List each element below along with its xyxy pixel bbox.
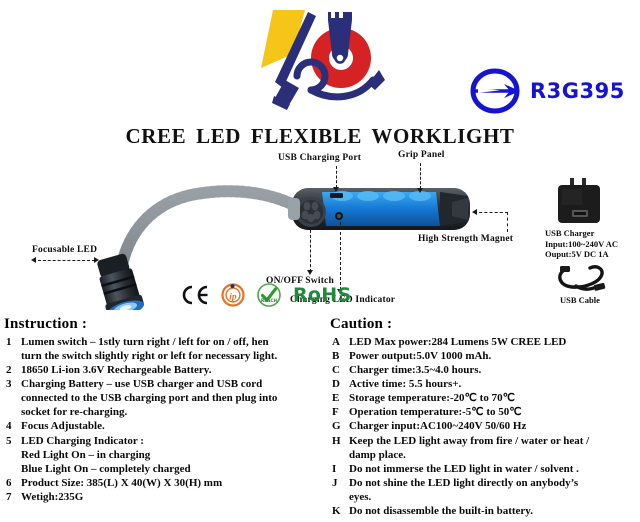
instruction-marker: 5: [4, 434, 21, 448]
instruction-text: turn the switch slightly right or left f…: [21, 349, 334, 363]
leader-usb-charging-port: [336, 166, 337, 188]
instruction-text: Lumen switch – 1stly turn right / left f…: [21, 335, 334, 349]
leader-high-strength-magnet-h: [474, 212, 508, 213]
instruction-item: 3 Charging Battery – use USB charger and…: [4, 377, 334, 391]
caution-marker: B: [330, 349, 349, 363]
usb-cable-image: [552, 262, 614, 294]
instruction-text: LED Charging Indicator :: [21, 434, 334, 448]
caution-text: eyes.: [349, 490, 638, 504]
arrowhead-grip-panel: [417, 188, 423, 193]
caution-text: Charger input:AC100~240V 50/60 Hz: [349, 419, 638, 433]
instruction-section: Instruction : 1 Lumen switch – 1stly tur…: [4, 316, 334, 504]
model-mark: R3G395: [470, 68, 625, 114]
caution-item: A LED Max power:284 Lumens 5W CREE LED: [330, 335, 638, 349]
usb-cable-caption: USB Cable: [560, 295, 600, 306]
caution-section: Caution : A LED Max power:284 Lumens 5W …: [330, 316, 638, 518]
usb-charger-caption: USB Charger Input:100~240V AC Ouput:5V D…: [545, 228, 618, 260]
caution-marker: K: [330, 504, 349, 518]
caution-heading: Caution :: [330, 316, 638, 333]
model-mark-text: R3G395: [530, 79, 625, 103]
instruction-item: 5 LED Charging Indicator :: [4, 434, 334, 448]
arrowhead-high-strength-magnet: [472, 209, 477, 215]
brand-logo-svg: [255, 6, 395, 111]
caution-item: E Storage temperature:-20℃ to 70℃: [330, 391, 638, 405]
arrowhead-focusable-led: [94, 257, 99, 263]
instruction-marker: 3: [4, 377, 21, 391]
instruction-item: 2 18650 Li-ion 3.6V Rechargeable Battery…: [4, 363, 334, 377]
r3g-logo-icon: [470, 68, 524, 114]
caution-text: Do not shine the LED light directly on a…: [349, 476, 638, 490]
caution-text: Power output:5.0V 1000 mAh.: [349, 349, 638, 363]
caution-item-cont: J eyes.: [330, 490, 638, 504]
arrowhead-focusable-led-tail: [31, 257, 36, 263]
instruction-text: socket for re-charging.: [21, 405, 334, 419]
ce-mark-icon: [180, 284, 210, 306]
usb-cable-caption-line-1: USB Cable: [560, 295, 600, 306]
instruction-item-cont: 1 turn the switch slightly right or left…: [4, 349, 334, 363]
caution-item-cont: H damp place.: [330, 448, 638, 462]
callout-high-strength-magnet: High Strength Magnet: [418, 234, 513, 244]
usb-charger-caption-line-2: Input:100~240V AC: [545, 239, 618, 250]
instruction-item-cont: 3 socket for re-charging.: [4, 405, 334, 419]
worklight-brand-logo: [255, 6, 395, 111]
caution-marker: C: [330, 363, 349, 377]
caution-marker: H: [330, 434, 349, 448]
instruction-item: 6 Product Size: 385(L) X 40(W) X 30(H) m…: [4, 476, 334, 490]
caution-text: Storage temperature:-20℃ to 70℃: [349, 391, 638, 405]
instruction-text: Blue Light On – completely charged: [21, 462, 334, 476]
instruction-marker: 7: [4, 490, 21, 504]
instruction-item: 1 Lumen switch – 1stly turn right / left…: [4, 335, 334, 349]
instruction-marker: 6: [4, 476, 21, 490]
caution-item: H Keep the LED light away from fire / wa…: [330, 434, 638, 448]
usb-charger-caption-line-1: USB Charger: [545, 228, 618, 239]
instruction-text: Wetigh:235G: [21, 490, 334, 504]
caution-text: Do not disassemble the built-in battery.: [349, 504, 638, 518]
svg-text:ip: ip: [229, 292, 237, 302]
reach-compliance-icon: REACH: [256, 283, 282, 307]
caution-marker: F: [330, 405, 349, 419]
usb-charger-caption-line-3: Ouput:5V DC 1A: [545, 249, 618, 260]
usb-cable-svg: [552, 262, 614, 294]
usb-charger-svg: [548, 178, 610, 226]
leader-high-strength-magnet-v: [507, 212, 508, 232]
caution-marker: D: [330, 377, 349, 391]
caution-item: B Power output:5.0V 1000 mAh.: [330, 349, 638, 363]
caution-text: Charger time:3.5~4.0 hours.: [349, 363, 638, 377]
certification-badges: ip REACH RoHS: [180, 283, 351, 307]
caution-text: LED Max power:284 Lumens 5W CREE LED: [349, 335, 638, 349]
caution-item: K Do not disassemble the built-in batter…: [330, 504, 638, 518]
callout-grip-panel: Grip Panel: [398, 150, 445, 160]
ip-rating-icon: ip: [221, 283, 245, 307]
instruction-text: Product Size: 385(L) X 40(W) X 30(H) mm: [21, 476, 334, 490]
callout-focusable-led: Focusable LED: [32, 245, 97, 255]
instruction-marker: 1: [4, 335, 21, 349]
leader-on-off-switch: [310, 230, 311, 272]
caution-item: G Charger input:AC100~240V 50/60 Hz: [330, 419, 638, 433]
caution-item: F Operation temperature:-5℃ to 50℃: [330, 405, 638, 419]
caution-item: I Do not immerse the LED light in water …: [330, 462, 638, 476]
usb-charger-image: [548, 178, 610, 226]
caution-text: Active time: 5.5 hours+.: [349, 377, 638, 391]
caution-item: J Do not shine the LED light directly on…: [330, 476, 638, 490]
instruction-heading: Instruction :: [4, 316, 334, 333]
caution-text: Operation temperature:-5℃ to 50℃: [349, 405, 638, 419]
instruction-text: 18650 Li-ion 3.6V Rechargeable Battery.: [21, 363, 334, 377]
arrowhead-usb-charging-port: [333, 187, 339, 192]
instruction-item-cont: 5 Blue Light On – completely charged: [4, 462, 334, 476]
caution-marker: J: [330, 476, 349, 490]
product-spec-sheet: R3G395 CREE LED FLEXIBLE WORKLIGHT: [0, 0, 640, 522]
caution-text: Do not immerse the LED light in water / …: [349, 462, 638, 476]
caution-text: Keep the LED light away from fire / wate…: [349, 434, 638, 448]
instruction-text: Charging Battery – use USB charger and U…: [21, 377, 334, 391]
instruction-marker: 2: [4, 363, 21, 377]
instruction-text: Focus Adjustable.: [21, 419, 334, 433]
instruction-item: 7 Wetigh:235G: [4, 490, 334, 504]
caution-text: damp place.: [349, 448, 638, 462]
caution-marker: A: [330, 335, 349, 349]
page-title: CREE LED FLEXIBLE WORKLIGHT: [0, 124, 640, 149]
rohs-compliance-label: RoHS: [293, 284, 351, 306]
caution-item: C Charger time:3.5~4.0 hours.: [330, 363, 638, 377]
instruction-item: 4 Focus Adjustable.: [4, 419, 334, 433]
leader-focusable-led: [33, 260, 95, 261]
instruction-marker: 4: [4, 419, 21, 433]
caution-item: D Active time: 5.5 hours+.: [330, 377, 638, 391]
caution-marker: I: [330, 462, 349, 476]
callout-usb-charging-port: USB Charging Port: [278, 153, 361, 163]
arrowhead-on-off-switch: [307, 270, 313, 275]
instruction-item-cont: 3 connected to the USB charging port and…: [4, 391, 334, 405]
instruction-text: Red Light On – in charging: [21, 448, 334, 462]
instruction-text: connected to the USB charging port and t…: [21, 391, 334, 405]
leader-charging-led-indicator: [340, 222, 341, 290]
leader-grip-panel: [420, 163, 421, 189]
caution-marker: E: [330, 391, 349, 405]
caution-marker: G: [330, 419, 349, 433]
svg-text:REACH: REACH: [261, 298, 277, 303]
instruction-item-cont: 5 Red Light On – in charging: [4, 448, 334, 462]
